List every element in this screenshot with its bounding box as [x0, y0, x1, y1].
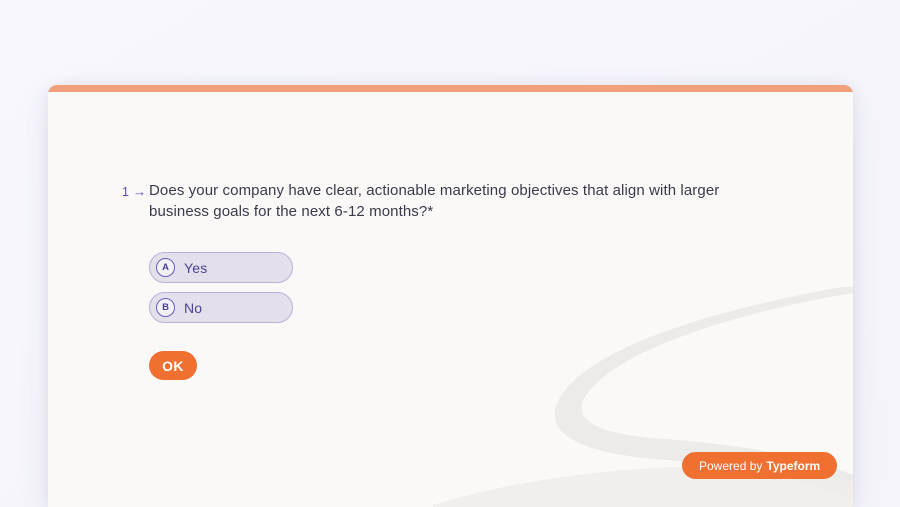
question-row: 1 → Does your company have clear, action… [122, 181, 762, 222]
ok-submit-button[interactable]: OK [149, 351, 197, 380]
typeform-card: 1 → Does your company have clear, action… [48, 85, 853, 507]
arrow-right-icon: → [133, 182, 146, 202]
choice-option-b[interactable]: B No [149, 292, 293, 323]
choice-key-badge-a: A [156, 258, 175, 277]
question-block: 1 → Does your company have clear, action… [122, 181, 762, 380]
question-text: Does your company have clear, actionable… [149, 181, 724, 222]
question-number-group: 1 → [122, 181, 149, 202]
choice-option-a[interactable]: A Yes [149, 252, 293, 283]
choice-list: A Yes B No [149, 252, 762, 323]
progress-bar-fill [48, 85, 853, 92]
powered-by-label: Powered by [699, 459, 762, 473]
powered-by-typeform-badge[interactable]: Powered by Typeform [682, 452, 837, 479]
typeform-brand-name: Typeform [766, 459, 820, 473]
choice-label-a: Yes [184, 260, 207, 276]
choice-label-b: No [184, 300, 202, 316]
progress-bar-track [48, 85, 853, 92]
question-number: 1 [122, 182, 129, 202]
choice-key-badge-b: B [156, 298, 175, 317]
